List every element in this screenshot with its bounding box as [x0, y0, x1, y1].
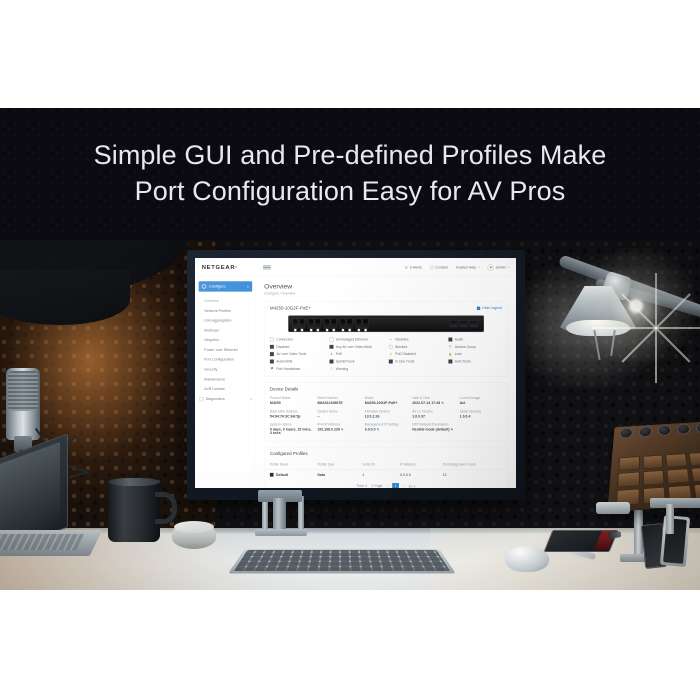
- legend-item: Connected: [270, 337, 324, 341]
- port-5[interactable]: [324, 319, 330, 329]
- sidebar-item-configure[interactable]: Configure ∧: [199, 281, 252, 291]
- detail-field: ModelM4250-10G2F-PoE+: [365, 396, 408, 405]
- legend-item: ⚠Warning: [329, 367, 383, 371]
- rows-per-page-select[interactable]: 10 ∨: [408, 484, 415, 488]
- port-2[interactable]: [299, 319, 305, 329]
- table-row[interactable]: Default Data 1 0.0.0.0 12: [264, 469, 507, 480]
- breadcrumb: Configure / Overview: [264, 292, 508, 296]
- solid-square-icon: [270, 352, 274, 356]
- port-7[interactable]: [340, 319, 346, 329]
- device-details-card: Device Details Product NameM4250 Serial …: [264, 382, 508, 441]
- detail-label: Management IP Setting: [365, 423, 408, 427]
- legend-item: Auto Trunk: [448, 359, 502, 363]
- legend-icon: [477, 306, 480, 309]
- col-vlan-id[interactable]: VLAN ID: [357, 459, 395, 469]
- detail-value[interactable]: 2022-07-14 17:28✎: [412, 401, 455, 405]
- legend-item: Audio/AVB: [270, 359, 324, 363]
- solid-square-icon: [270, 345, 274, 349]
- detail-value-text: 0.0.0.0: [365, 428, 376, 432]
- uplink-icon: [329, 359, 333, 363]
- port-group-3: [324, 319, 337, 329]
- table-header-row: Profile Name Profile Type VLAN ID IP Add…: [264, 459, 507, 469]
- profile-name-text: Default: [276, 473, 288, 477]
- legend-item: In Use Trunk: [389, 359, 443, 363]
- warning-icon: ⚠: [329, 367, 333, 371]
- legend-label: Uplink/Trunk: [336, 360, 355, 364]
- bell-icon: [430, 266, 433, 269]
- trunk-icon: [389, 359, 393, 363]
- alerts-button[interactable]: 0 Alerts: [405, 265, 422, 269]
- port-led-icon: [342, 329, 344, 331]
- speaker-icon: [270, 359, 274, 363]
- auto-trunk-icon: [448, 359, 452, 363]
- port-led-icon: [317, 329, 319, 331]
- mixer-stand-leg: [666, 504, 674, 534]
- legend-item: 🔒Lock: [448, 352, 502, 356]
- detail-field: Firmware Version13.0.2.26: [365, 410, 408, 419]
- legend-label: Warning: [336, 367, 348, 371]
- solid-square-icon: [329, 345, 333, 349]
- account-chevron-down-icon: ∨: [507, 266, 509, 269]
- sidebar-item-security[interactable]: Security: [204, 364, 256, 374]
- detail-value: M4250: [270, 401, 313, 405]
- detail-field: System Name--: [317, 410, 360, 419]
- port-group-4: [340, 319, 353, 329]
- sidebar-item-overview[interactable]: Overview: [204, 297, 256, 306]
- configured-profiles-title: Configured Profiles: [270, 452, 308, 457]
- legend-label: Disabled: [276, 345, 289, 349]
- detail-value: 6MA01234567E: [317, 401, 360, 405]
- detail-value: 13.0.2.26: [365, 415, 408, 419]
- port-led-icon: [358, 329, 360, 331]
- detail-value: 54:84:76:3C:6A:5p: [270, 415, 313, 419]
- desktop-monitor: NETGEAR ® 0 Alerts Contact: [187, 250, 525, 500]
- outline-square-icon: [329, 337, 333, 341]
- legend-label: Connected: [276, 338, 292, 342]
- detail-label: NTP Network Parameters: [412, 423, 455, 427]
- detail-value: 1.0.0.4: [460, 415, 503, 419]
- detail-label: Serial Number: [317, 396, 360, 400]
- edit-pencil-icon[interactable]: ✎: [451, 428, 454, 431]
- col-profile-name[interactable]: Profile Name: [264, 459, 312, 469]
- legend-label: Audio: [455, 338, 464, 342]
- detail-field: Management IP Setting0.0.0.0✎: [365, 423, 408, 435]
- bolt-icon: 4: [329, 352, 333, 356]
- sidebar-diagnostics-label: Diagnostics: [206, 397, 225, 401]
- edit-pencil-icon[interactable]: ✎: [341, 428, 344, 431]
- port-led-icon: [364, 329, 366, 331]
- detail-value: 0 days, 0 hours, 15 mins, 3 secs: [270, 428, 313, 435]
- legend-label: In Use Trunk: [395, 360, 414, 364]
- wrench-icon: [199, 397, 203, 401]
- col-port-assignment-count[interactable]: Port Assignment Count: [437, 459, 508, 469]
- port-led-icon: [326, 329, 328, 331]
- sidebar-item-maintenance[interactable]: Maintenance: [204, 374, 256, 384]
- keyboard-keys: [234, 550, 451, 571]
- legend-label: Unmanaged Ethernet: [336, 338, 368, 342]
- port-led-icon: [333, 329, 335, 331]
- desk-photo: NETGEAR ® 0 Alerts Contact: [0, 240, 700, 590]
- legend-label: Audio/AVB: [276, 360, 292, 364]
- legend-item: ⇄Port Handshake: [270, 367, 324, 371]
- port-4[interactable]: [315, 319, 321, 329]
- detail-value[interactable]: 192.168.0.239✎: [317, 428, 360, 432]
- edit-pencil-icon[interactable]: ✎: [377, 428, 380, 431]
- next-page-button[interactable]: ›: [403, 484, 404, 488]
- port-led-icon: [301, 329, 303, 331]
- sidebar-configure-label: Configure: [209, 284, 226, 288]
- headline-text: Simple GUI and Pre-defined Profiles Make…: [0, 138, 700, 210]
- legend-item: 4PoE: [329, 352, 383, 356]
- detail-label: Serial Versions: [460, 410, 503, 414]
- port-8[interactable]: [347, 319, 353, 329]
- boom-arm: [0, 270, 130, 325]
- device-card-header: M4250-10G2F-PoE+ Hide Legend: [264, 301, 507, 313]
- monitor-screen[interactable]: NETGEAR ® 0 Alerts Contact: [195, 258, 516, 488]
- detail-label: Firmware Version: [365, 410, 408, 414]
- detail-value-text: 192.168.0.239: [317, 428, 339, 432]
- legend-grid: Connected Unmanaged Ethernet —Disabled A…: [264, 336, 507, 376]
- app-body: Configure ∧ Overview Network Profiles Li…: [195, 277, 516, 471]
- port-group-2: [308, 319, 321, 329]
- sidebar-item-power-over-ethernet[interactable]: Power over Ethernet: [204, 345, 256, 355]
- legend-item: —Disabled: [389, 337, 443, 341]
- handshake-icon: ⇄: [270, 367, 274, 371]
- port-group-5: [356, 319, 369, 329]
- sidebar-item-avb-license[interactable]: AVB License: [204, 384, 256, 394]
- legend-item: Disabled: [270, 345, 324, 349]
- account-menu[interactable]: admin ∨: [488, 264, 510, 270]
- legend-item: AV over Video Tools: [270, 352, 324, 356]
- solid-square-icon: [448, 337, 452, 341]
- legend-label: Access Group: [455, 345, 476, 349]
- detail-value: 1.0.0.37: [412, 415, 455, 419]
- legend-item: Uplink/Trunk: [329, 359, 383, 363]
- legend-item: ⊓Access Group: [448, 345, 502, 349]
- device-details-title: Device Details: [270, 387, 298, 392]
- table-pagination: Total: 1 1 Page ‹ 1 › 10 ∨: [264, 480, 507, 488]
- header-actions: 0 Alerts Contact Guided Help ∨: [405, 264, 509, 270]
- detail-label: Date & Time: [412, 396, 455, 400]
- legend-label: PoE Disabled: [395, 352, 415, 356]
- sidebar-item-link-aggregation[interactable]: Link Aggregation: [204, 315, 256, 325]
- sfp-port-12[interactable]: [470, 320, 478, 327]
- contact-button[interactable]: Contact: [430, 265, 448, 269]
- edit-pencil-icon[interactable]: ✎: [441, 402, 444, 405]
- contact-label: Contact: [435, 265, 448, 269]
- detail-label: System Uptime: [270, 423, 313, 427]
- sidebar-item-port-configuration[interactable]: Port Configuration: [204, 355, 256, 365]
- detail-label: Model: [365, 396, 408, 400]
- detail-value[interactable]: 0.0.0.0✎: [365, 428, 408, 432]
- coffee-mug: [108, 480, 160, 542]
- mug-rim: [108, 478, 160, 486]
- col-profile-type[interactable]: Profile Type: [312, 459, 357, 469]
- detail-value: M4250-10G2F-PoE+: [365, 401, 408, 405]
- legend-item: Blocked: [389, 345, 443, 349]
- sidebar-item-multicast[interactable]: Multicast: [204, 325, 256, 335]
- cell-profile-type: Data: [312, 469, 357, 480]
- configured-profiles-table: Profile Name Profile Type VLAN ID IP Add…: [264, 459, 507, 480]
- legend-item: Unmanaged Ethernet: [329, 337, 383, 341]
- promo-image: Simple GUI and Pre-defined Profiles Make…: [0, 0, 700, 700]
- total-label: Total: 1: [357, 484, 368, 488]
- legend-item: Audio: [448, 337, 502, 341]
- lock-icon: 🔒: [448, 352, 452, 356]
- detail-value-text: Neutral mode (default): [412, 428, 449, 432]
- port-group-1: [292, 319, 305, 329]
- outline-square-icon: [270, 337, 274, 341]
- detail-field: Current ImageAct: [460, 396, 503, 405]
- cell-profile-name[interactable]: Default: [264, 469, 312, 480]
- lamp-head: [556, 272, 640, 332]
- device-overview-card: M4250-10G2F-PoE+ Hide Legend: [264, 301, 508, 377]
- dash-icon: —: [389, 337, 393, 341]
- configured-profiles-header: Configured Profiles: [264, 447, 507, 459]
- legend-toggle-label: Hide Legend: [482, 306, 502, 310]
- alert-dot-icon: [405, 266, 408, 269]
- detail-value: --: [317, 415, 360, 419]
- detail-label: AV LC Version: [412, 410, 455, 414]
- mixer-stand-top: [650, 498, 700, 508]
- lamp-bulb: [566, 320, 630, 336]
- brand-trademark: ®: [235, 266, 237, 269]
- sfp-port-11[interactable]: [460, 320, 468, 327]
- port-9[interactable]: [356, 319, 362, 329]
- detail-label: IPv4 IP Address: [317, 423, 360, 427]
- legend-label: Disabled: [395, 338, 408, 342]
- legend-toggle-button[interactable]: Hide Legend: [477, 306, 502, 310]
- port-10[interactable]: [363, 319, 369, 329]
- per-page-label[interactable]: 1 Page: [372, 484, 383, 488]
- configured-profiles-card: Configured Profiles Profile Name Profile…: [264, 447, 508, 488]
- bolt-off-icon: ⚡: [389, 352, 393, 356]
- page-title: Overview: [264, 282, 508, 290]
- detail-label: Base MAC Address: [270, 410, 313, 414]
- detail-field: Serial Number6MA01234567E: [317, 396, 360, 405]
- monitor-base: [255, 529, 307, 536]
- device-model-title: M4250-10G2F-PoE+: [270, 306, 311, 311]
- sidebar-item-network-profiles[interactable]: Network Profiles: [204, 306, 256, 316]
- device-details-grid: Product NameM4250 Serial Number6MA012345…: [264, 395, 507, 441]
- legend-label: Any AV over Video Multi: [336, 345, 372, 349]
- port-led-icon: [310, 329, 312, 331]
- app-header: NETGEAR ® 0 Alerts Contact: [195, 258, 516, 277]
- sidebar-submenu: Overview Network Profiles Link Aggregati…: [195, 294, 256, 394]
- console-port[interactable]: [450, 320, 458, 327]
- detail-field: Product NameM4250: [270, 396, 313, 405]
- legend-label: PoE: [336, 352, 342, 356]
- microphone-grille: [8, 371, 38, 411]
- legend-label: AV over Video Tools: [276, 352, 306, 356]
- headline-banner: Simple GUI and Pre-defined Profiles Make…: [0, 108, 700, 240]
- sidebar-item-diagnostics[interactable]: Diagnostics ∨: [195, 394, 256, 404]
- sidebar-item-neighbor[interactable]: Neighbor: [204, 335, 256, 345]
- avatar-icon: [488, 264, 494, 270]
- legend-label: Blocked: [395, 345, 407, 349]
- detail-label: Product Name: [270, 396, 313, 400]
- detail-value-text: 2022-07-14 17:28: [412, 401, 440, 405]
- detail-label: System Name: [317, 410, 360, 414]
- device-details-header: Device Details: [264, 382, 507, 394]
- legend-item: Any AV over Video Multi: [329, 345, 383, 349]
- netgear-switch-admin-ui[interactable]: NETGEAR ® 0 Alerts Contact: [195, 258, 516, 471]
- detail-field: Date & Time2022-07-14 17:28✎: [412, 396, 455, 405]
- port-3[interactable]: [308, 319, 314, 329]
- guided-help-label: Guided Help: [456, 265, 476, 269]
- detail-value: Act: [460, 401, 503, 405]
- gear-icon: [202, 284, 206, 288]
- legend-label: Port Handshake: [276, 367, 300, 371]
- prev-page-button[interactable]: ‹: [387, 484, 388, 488]
- detail-field: Base MAC Address54:84:76:3C:6A:5p: [270, 410, 313, 419]
- port-6[interactable]: [331, 319, 337, 329]
- detail-field: AV LC Version1.0.0.37: [412, 410, 455, 419]
- chevron-down-icon: ∨: [478, 266, 480, 269]
- legend-item: ⚡PoE Disabled: [389, 352, 443, 356]
- port-1[interactable]: [292, 319, 298, 329]
- wireless-mouse: [505, 546, 549, 572]
- smart-speaker-top: [174, 521, 214, 533]
- detail-field: System Uptime0 days, 0 hours, 15 mins, 3…: [270, 423, 313, 435]
- detail-label: Current Image: [460, 396, 503, 400]
- sidebar: Configure ∧ Overview Network Profiles Li…: [195, 277, 256, 471]
- port-led-icon: [348, 329, 350, 331]
- brand-logo[interactable]: NETGEAR ®: [202, 264, 263, 271]
- col-ip-address[interactable]: IP Address: [395, 459, 438, 469]
- monitor-neck: [273, 498, 286, 532]
- cell-ip-address: 0.0.0.0: [395, 469, 438, 480]
- detail-field: NTP Network ParametersNeutral mode (defa…: [412, 423, 455, 435]
- legend-label: Auto Trunk: [455, 360, 471, 364]
- cell-port-count: 12: [437, 469, 508, 480]
- switch-chassis: [288, 315, 484, 332]
- account-label: admin: [496, 265, 506, 269]
- chevron-up-icon: ∧: [247, 285, 249, 288]
- cell-vlan-id: 1: [357, 469, 395, 480]
- detail-value[interactable]: Neutral mode (default)✎: [412, 428, 455, 432]
- main-content: Overview Configure / Overview M4250-10G2…: [256, 277, 516, 471]
- diagnostics-chevron-down-icon: ∨: [250, 397, 252, 400]
- detail-field: IPv4 IP Address192.168.0.239✎: [317, 423, 360, 435]
- switch-front-panel[interactable]: [264, 314, 507, 337]
- current-page-button[interactable]: 1: [392, 483, 399, 488]
- circle-icon: [389, 345, 393, 349]
- mixer-clamp: [596, 502, 630, 514]
- detail-field: Serial Versions1.0.0.4: [460, 410, 503, 419]
- row-checkbox[interactable]: [270, 473, 274, 477]
- brand-name: NETGEAR: [202, 264, 236, 271]
- laptop-keyboard: [0, 534, 84, 550]
- menu-icon[interactable]: [263, 265, 271, 269]
- guided-help-menu[interactable]: Guided Help ∨: [456, 265, 480, 269]
- bracket-icon: ⊓: [448, 345, 452, 349]
- alerts-label: 0 Alerts: [410, 265, 422, 269]
- legend-label: Lock: [455, 352, 462, 356]
- port-led-icon: [294, 329, 296, 331]
